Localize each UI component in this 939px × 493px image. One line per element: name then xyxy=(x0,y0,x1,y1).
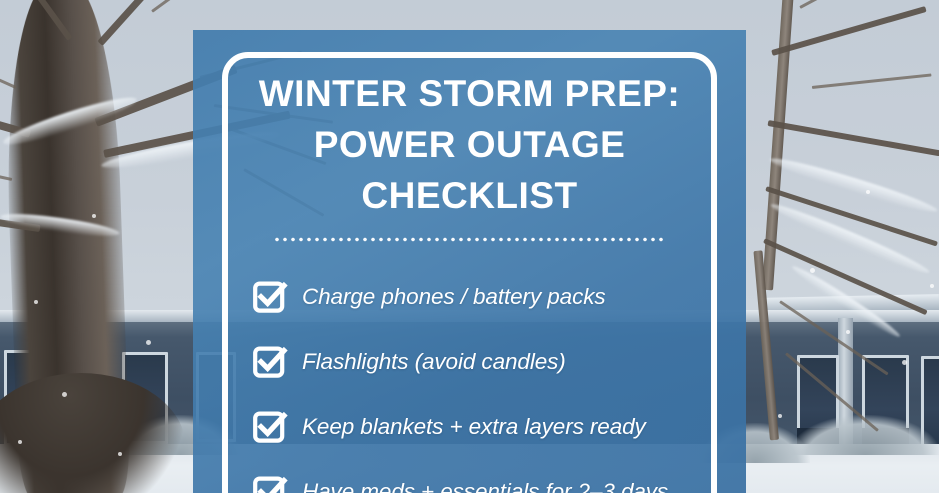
snow-flake xyxy=(846,330,850,334)
checklist: Charge phones / battery packs Flashlight… xyxy=(239,264,700,493)
list-item[interactable]: Keep blankets + extra layers ready xyxy=(253,394,700,459)
list-item-label: Charge phones / battery packs xyxy=(302,283,606,310)
tree-branch xyxy=(771,6,926,56)
snow-flake xyxy=(146,340,151,345)
title-line-3: CHECKLIST xyxy=(239,170,700,221)
snow-flake xyxy=(810,268,815,273)
checkbox-checked-icon[interactable] xyxy=(253,410,286,443)
snow-flake xyxy=(866,190,870,194)
tree-branch xyxy=(767,120,939,156)
list-item[interactable]: Charge phones / battery packs xyxy=(253,264,700,329)
snow-flake xyxy=(118,452,122,456)
list-item-label: Have meds + essentials for 2–3 days xyxy=(302,478,668,493)
tree-twig xyxy=(812,73,932,89)
tree-twig xyxy=(151,0,217,13)
snow-flake xyxy=(92,214,96,218)
checkbox-checked-icon[interactable] xyxy=(253,475,286,493)
title-line-1: WINTER STORM PREP: xyxy=(239,68,700,119)
tree-twig xyxy=(799,0,906,9)
list-item-label: Keep blankets + extra layers ready xyxy=(302,413,646,440)
snow-flake xyxy=(778,414,782,418)
checkbox-checked-icon[interactable] xyxy=(253,345,286,378)
list-item[interactable]: Have meds + essentials for 2–3 days xyxy=(253,459,700,493)
title-line-2: POWER OUTAGE xyxy=(239,119,700,170)
dotted-divider xyxy=(273,237,666,242)
snow-flake xyxy=(930,284,934,288)
page-title: WINTER STORM PREP: POWER OUTAGE CHECKLIS… xyxy=(239,68,700,221)
snow-flake xyxy=(902,360,907,365)
branch-snow xyxy=(768,153,939,218)
tree-branch xyxy=(97,0,182,46)
snow-flake xyxy=(62,392,67,397)
checkbox-checked-icon[interactable] xyxy=(253,280,286,313)
list-item-label: Flashlights (avoid candles) xyxy=(302,348,566,375)
checklist-card: WINTER STORM PREP: POWER OUTAGE CHECKLIS… xyxy=(193,30,746,493)
poster-canvas: WINTER STORM PREP: POWER OUTAGE CHECKLIS… xyxy=(0,0,939,493)
snow-flake xyxy=(18,440,22,444)
snow-flake xyxy=(34,300,38,304)
list-item[interactable]: Flashlights (avoid candles) xyxy=(253,329,700,394)
